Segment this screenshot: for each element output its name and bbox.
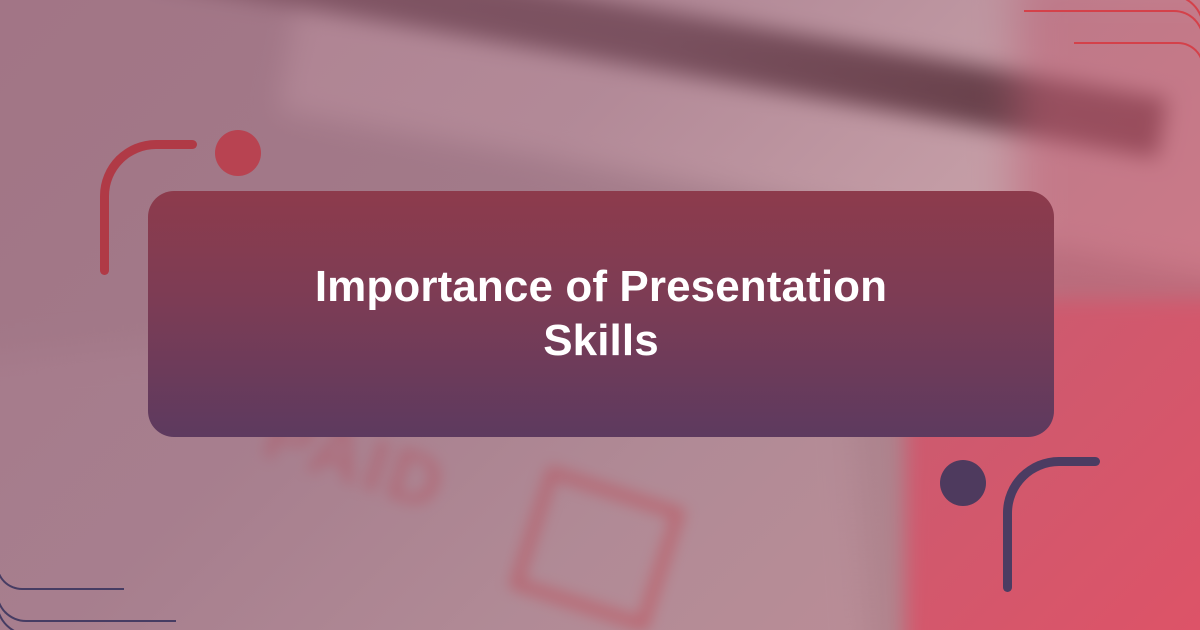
- corner-line-inner: [1074, 42, 1200, 124]
- page-title: Importance of Presentation Skills: [251, 260, 951, 367]
- title-card: Importance of Presentation Skills: [148, 191, 1054, 437]
- bracket-bottom-right-icon: [1003, 457, 1095, 587]
- social-card: PAID Importance of Presentation Skills: [0, 0, 1200, 630]
- dot-bottom-right-icon: [940, 460, 986, 506]
- corner-line-inner: [0, 510, 124, 590]
- dot-top-left-icon: [215, 130, 261, 176]
- corner-lines-bottom-left: [0, 506, 196, 630]
- corner-lines-top-right: [1004, 0, 1200, 124]
